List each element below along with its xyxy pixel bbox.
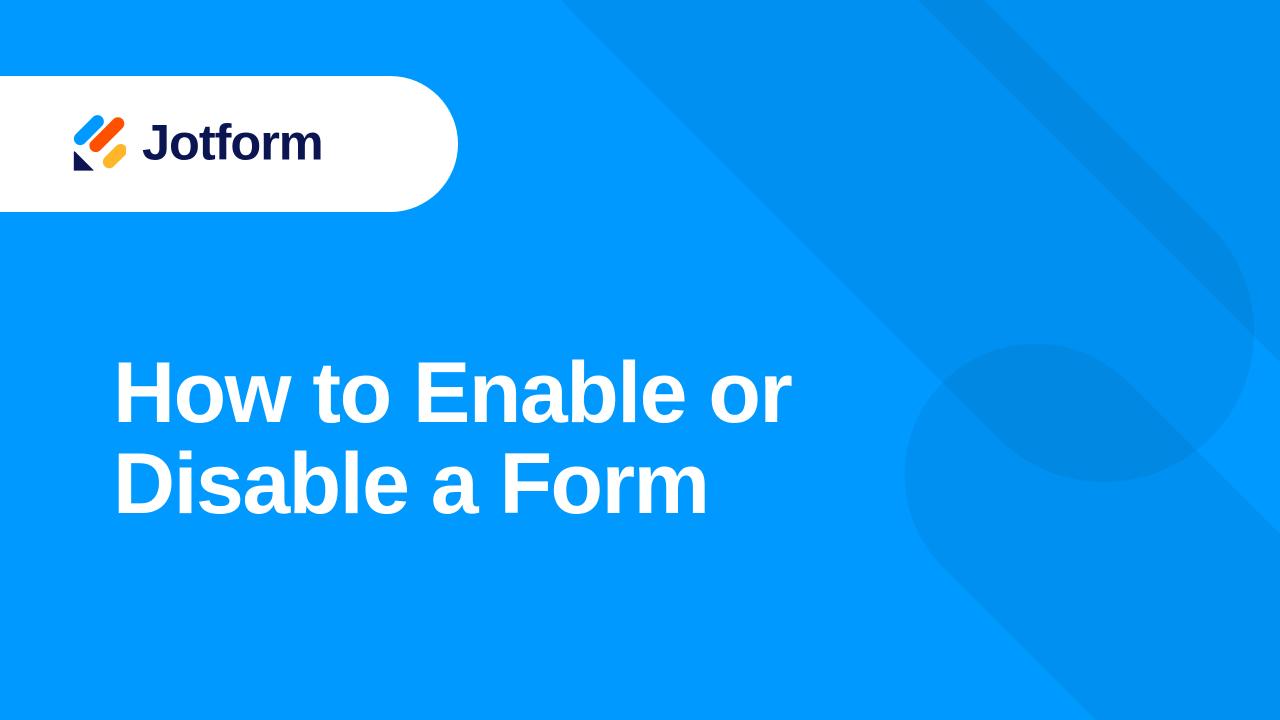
logo-corner-navy — [74, 151, 94, 170]
decor-capsule-lower-right — [850, 289, 1280, 720]
jotform-wordmark-text: Jotform — [142, 117, 323, 171]
decor-capsule-far-right — [787, 0, 1280, 563]
jotform-logo-mark — [68, 115, 126, 173]
page-title: How to Enable or Disable a Form — [113, 348, 813, 530]
title-card: Jotform How to Enable or Disable a Form — [0, 0, 1280, 720]
jotform-wordmark: Jotform — [142, 117, 358, 171]
brand-logo-pill: Jotform — [0, 76, 458, 212]
